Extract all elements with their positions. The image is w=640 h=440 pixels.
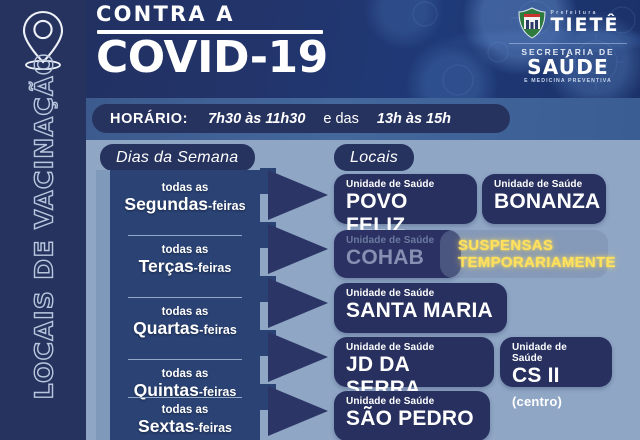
day-item-3: todas as Quintas-feiras xyxy=(110,368,260,400)
day-name: Segundas xyxy=(124,194,208,214)
day-name-line: Sextas-feiras xyxy=(110,417,260,437)
location-card-bonanza[interactable]: Unidade de Saúde BONANZA xyxy=(482,174,606,224)
location-note: (centro) xyxy=(512,394,562,409)
day-suffix: -feiras xyxy=(194,261,232,275)
location-subtitle: Unidade de Saúde xyxy=(346,288,495,299)
day-divider xyxy=(128,235,242,236)
day-divider xyxy=(128,359,242,360)
schedule-time-morning: 7h30 às 11h30 xyxy=(208,111,305,127)
day-divider xyxy=(128,297,242,298)
location-subtitle: Unidade de Saúde xyxy=(494,179,594,190)
location-name: SANTA MARIA xyxy=(346,299,495,323)
day-name: Terças xyxy=(139,256,194,276)
arrow-connector-group xyxy=(260,168,332,440)
location-subtitle: Unidade de Saúde xyxy=(346,179,465,190)
left-sidebar: LOCAIS DE VACINAÇÃO xyxy=(0,0,86,440)
section-header-days-label: Dias da Semana xyxy=(116,149,239,167)
day-name-line: Segundas-feiras xyxy=(110,195,260,215)
day-suffix: -feiras xyxy=(194,421,232,435)
suspended-line-2: TEMPORARIAMENTE xyxy=(458,254,608,271)
location-card-jd-da-serra[interactable]: Unidade de Saúde JD DA SERRA xyxy=(334,337,494,387)
brand-city-name: TIETÊ xyxy=(551,16,620,35)
sidebar-vertical-title: LOCAIS DE VACINAÇÃO xyxy=(30,60,59,400)
location-subtitle: Unidade de Saúde xyxy=(346,396,478,407)
days-panel: todas as Segundas-feiras todas as Terças… xyxy=(110,170,260,440)
day-name-line: Quartas-feiras xyxy=(110,319,260,339)
poster-title-block: CONTRA A COVID-19 xyxy=(96,4,328,81)
location-card-povo-feliz[interactable]: Unidade de Saúde POVO FELIZ xyxy=(334,174,477,224)
location-name: CS II xyxy=(512,364,560,387)
location-subtitle: Unidade de Saúde xyxy=(346,342,482,353)
title-line-1: CONTRA A xyxy=(96,4,328,25)
schedule-label: HORÁRIO: xyxy=(110,111,188,127)
day-suffix: -feiras xyxy=(208,199,246,213)
suspended-notice: SUSPENSAS TEMPORARIAMENTE xyxy=(440,230,608,278)
section-header-places: Locais xyxy=(334,144,414,171)
location-name: BONANZA xyxy=(494,190,594,214)
day-item-0: todas as Segundas-feiras xyxy=(110,182,260,214)
day-name: Quartas xyxy=(133,318,199,338)
location-name: COHAB xyxy=(346,246,449,270)
days-panel-shadow xyxy=(96,170,110,440)
day-name: Sextas xyxy=(138,416,194,436)
day-name-line: Terças-feiras xyxy=(110,257,260,277)
poster-header: CONTRA A COVID-19 Prefeitura TIETÊ xyxy=(0,0,640,98)
location-name: SÃO PEDRO xyxy=(346,407,478,431)
location-subtitle: Unidade de Saúde xyxy=(346,235,449,246)
suspended-line-1: SUSPENSAS xyxy=(458,237,608,254)
day-item-1: todas as Terças-feiras xyxy=(110,244,260,276)
schedule-time-afternoon: 13h às 15h xyxy=(377,111,451,127)
location-card-sao-pedro[interactable]: Unidade de Saúde SÃO PEDRO xyxy=(334,391,490,440)
brand-secretaria-sub: E MEDICINA PREVENTIVA xyxy=(502,78,634,84)
section-header-days: Dias da Semana xyxy=(100,144,255,171)
brand-divider xyxy=(509,43,627,44)
arrow-triangles xyxy=(268,170,328,436)
title-line-2: COVID-19 xyxy=(96,36,328,81)
day-suffix: -feiras xyxy=(199,323,237,337)
day-divider xyxy=(128,397,242,398)
location-subtitle: Unidade de Saúde xyxy=(512,342,600,364)
schedule-pill: HORÁRIO: 7h30 às 11h30 e das 13h às 15h xyxy=(92,104,510,133)
location-card-cs-ii[interactable]: Unidade de Saúde CS II (centro) xyxy=(500,337,612,387)
section-header-places-label: Locais xyxy=(350,149,398,167)
location-name-line: CS II (centro) xyxy=(512,364,600,411)
coat-of-arms-icon xyxy=(517,7,547,39)
brand-secretaria-name: SAÚDE xyxy=(502,57,634,78)
day-item-2: todas as Quartas-feiras xyxy=(110,306,260,338)
day-item-4: todas as Sextas-feiras xyxy=(110,404,260,436)
vaccination-poster: CONTRA A COVID-19 Prefeitura TIETÊ xyxy=(0,0,640,440)
brand-block: Prefeitura TIETÊ SECRETARIA DE SAÚDE E M… xyxy=(502,7,634,84)
location-card-santa-maria[interactable]: Unidade de Saúde SANTA MARIA xyxy=(334,283,507,333)
schedule-conjunction: e das xyxy=(323,111,358,127)
